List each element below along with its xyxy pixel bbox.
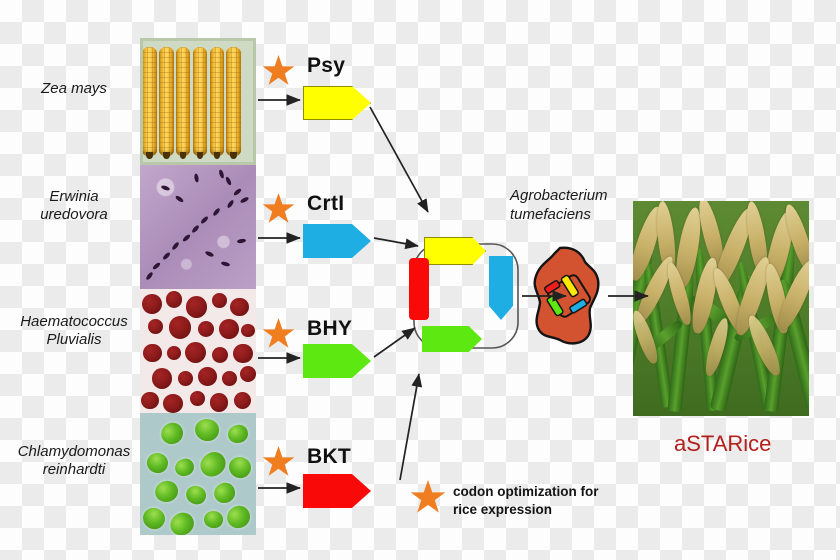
legend-text: codon optimization for rice expression (453, 483, 633, 519)
agrobacterium-cell (530, 246, 608, 346)
rice-field-photo (633, 201, 809, 416)
star-icon-legend (410, 480, 446, 516)
gene-arrow-bkt (303, 474, 371, 508)
star-icon-bkt (262, 446, 295, 479)
star-icon-crti (262, 193, 295, 226)
product-label-astarice: aSTARice (674, 431, 771, 457)
organism-label-zea-mays: Zea mays (14, 80, 134, 98)
diagram-canvas: Zea mays Erwinia uredovora Haematococcus… (0, 0, 840, 560)
gene-label-bhy: BHY (307, 317, 352, 341)
star-icon-psy (262, 55, 295, 88)
gene-label-bkt: BKT (307, 445, 351, 469)
organism-label-haematococcus: Haematococcus Pluvialis (8, 313, 140, 350)
gene-arrow-crti (303, 224, 371, 258)
organism-label-chlamydomonas: Chlamydomonas reinhardti (8, 443, 140, 480)
star-icon-bhy (262, 318, 295, 351)
gene-arrow-bhy (303, 344, 371, 378)
gene-label-crti: CrtI (307, 192, 344, 216)
haematococcus-cells-photo (140, 289, 256, 413)
chlamydomonas-cells-photo (140, 413, 256, 535)
gene-construct-plasmid (404, 234, 528, 358)
plasmid-segment-bkt (409, 258, 429, 320)
corn-cobs-photo (140, 38, 256, 165)
gene-arrow-psy (303, 86, 371, 120)
erwinia-micrograph-photo (140, 165, 256, 289)
gene-label-psy: Psy (307, 54, 345, 78)
organism-label-erwinia: Erwinia uredovora (14, 188, 134, 225)
agrobacterium-label: Agrobacterium tumefaciens (510, 187, 608, 225)
